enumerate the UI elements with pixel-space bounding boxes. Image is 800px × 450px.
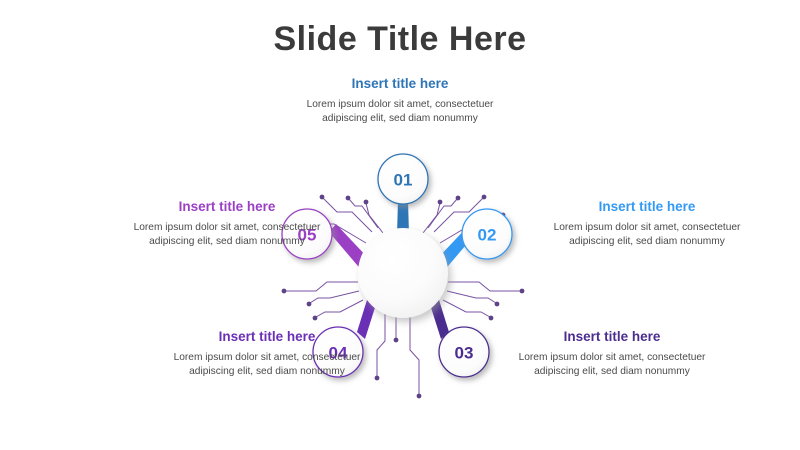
text-block-03-body: Lorem ipsum dolor sit amet, consectetuer… <box>505 351 719 381</box>
text-block-04-body: Lorem ipsum dolor sit amet, consectetuer… <box>160 351 374 381</box>
text-block-05-title: Insert title here <box>120 198 334 216</box>
text-block-01: Insert title here Lorem ipsum dolor sit … <box>293 75 507 127</box>
text-block-05-body: Lorem ipsum dolor sit amet, consectetuer… <box>120 221 334 251</box>
node-01-number: 01 <box>394 171 413 190</box>
circuit-trace-left-2 <box>307 291 359 306</box>
circuit-trace-right-1 <box>448 282 524 293</box>
text-block-03-title: Insert title here <box>505 328 719 346</box>
node-01[interactable]: 01 <box>378 154 428 204</box>
center-hub <box>358 228 448 318</box>
node-02-number: 02 <box>478 226 497 245</box>
text-block-02: Insert title here Lorem ipsum dolor sit … <box>540 198 754 250</box>
slide-canvas: Slide Title Here <box>0 0 800 450</box>
text-block-02-body: Lorem ipsum dolor sit amet, consectetuer… <box>540 221 754 251</box>
circuit-trace-upper-left-3 <box>364 200 383 233</box>
circuit-trace-right-3 <box>443 300 493 320</box>
circuit-trace-left-3 <box>313 300 363 320</box>
circuit-trace-bottom-2 <box>394 316 399 342</box>
text-block-01-body: Lorem ipsum dolor sit amet, consectetuer… <box>293 98 507 128</box>
node-03-number: 03 <box>455 344 474 363</box>
node-03[interactable]: 03 <box>439 327 489 377</box>
text-block-05: Insert title here Lorem ipsum dolor sit … <box>120 198 334 250</box>
circuit-trace-upper-right-3 <box>423 200 442 233</box>
circuit-trace-left-1 <box>282 282 358 293</box>
circuit-trace-bottom-3 <box>410 316 421 398</box>
circuit-trace-right-2 <box>447 291 499 306</box>
circuit-trace-bottom-1 <box>375 314 385 380</box>
node-02[interactable]: 02 <box>462 209 512 259</box>
text-block-03: Insert title here Lorem ipsum dolor sit … <box>505 328 719 380</box>
text-block-02-title: Insert title here <box>540 198 754 216</box>
text-block-01-title: Insert title here <box>293 75 507 93</box>
text-block-04: Insert title here Lorem ipsum dolor sit … <box>160 328 374 380</box>
text-block-04-title: Insert title here <box>160 328 374 346</box>
